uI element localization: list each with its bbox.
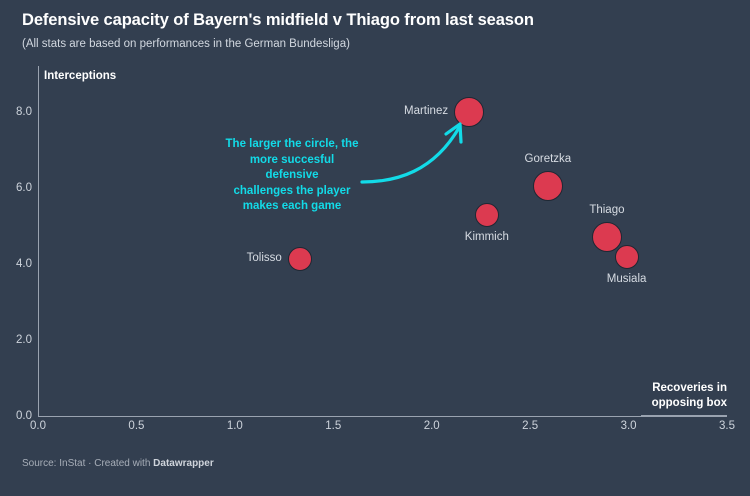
y-tick-label: 8.0 bbox=[16, 106, 32, 118]
data-point-label: Goretzka bbox=[525, 153, 572, 165]
y-tick-label: 6.0 bbox=[16, 182, 32, 194]
footer-tool[interactable]: Datawrapper bbox=[153, 458, 214, 469]
y-axis-line bbox=[38, 66, 39, 417]
x-axis-title-rule bbox=[641, 415, 727, 416]
data-point-label: Kimmich bbox=[465, 231, 509, 243]
annotation-text: The larger the circle, the more succesfu… bbox=[222, 137, 362, 215]
x-axis-title: Recoveries in opposing box bbox=[652, 381, 727, 411]
footer-source: Source: InStat · Created with bbox=[22, 458, 153, 469]
annotation-line-4: makes each game bbox=[222, 199, 362, 215]
x-tick-label: 1.0 bbox=[227, 420, 243, 432]
data-point-bubble[interactable] bbox=[288, 247, 312, 271]
footer-credit: Source: InStat · Created with Datawrappe… bbox=[22, 458, 214, 469]
x-tick-label: 0.5 bbox=[128, 420, 144, 432]
plot-area: Interceptions Recoveries in opposing box… bbox=[0, 0, 750, 496]
y-tick-label: 2.0 bbox=[16, 334, 32, 346]
data-point-bubble[interactable] bbox=[615, 245, 639, 269]
x-axis-line bbox=[38, 416, 727, 417]
y-tick-label: 4.0 bbox=[16, 258, 32, 270]
data-point-label: Thiago bbox=[589, 204, 624, 216]
data-point-bubble[interactable] bbox=[533, 171, 563, 201]
annotation-arrow-icon bbox=[360, 108, 480, 190]
data-point-label: Tolisso bbox=[247, 252, 282, 264]
x-tick-label: 3.5 bbox=[719, 420, 735, 432]
x-tick-label: 2.5 bbox=[522, 420, 538, 432]
x-tick-label: 1.5 bbox=[325, 420, 341, 432]
annotation-line-3: challenges the player bbox=[222, 184, 362, 200]
x-tick-label: 0.0 bbox=[30, 420, 46, 432]
x-axis-title-line1: Recoveries in bbox=[652, 381, 727, 396]
chart-root: Defensive capacity of Bayern's midfield … bbox=[0, 0, 750, 496]
annotation-line-1: The larger the circle, the bbox=[222, 137, 362, 153]
x-tick-label: 2.0 bbox=[424, 420, 440, 432]
data-point-label: Musiala bbox=[607, 273, 647, 285]
annotation-line-2: more succesful defensive bbox=[222, 153, 362, 184]
x-tick-label: 3.0 bbox=[621, 420, 637, 432]
x-axis-title-line2: opposing box bbox=[652, 396, 727, 411]
y-axis-title: Interceptions bbox=[44, 70, 116, 82]
data-point-bubble[interactable] bbox=[475, 203, 499, 227]
